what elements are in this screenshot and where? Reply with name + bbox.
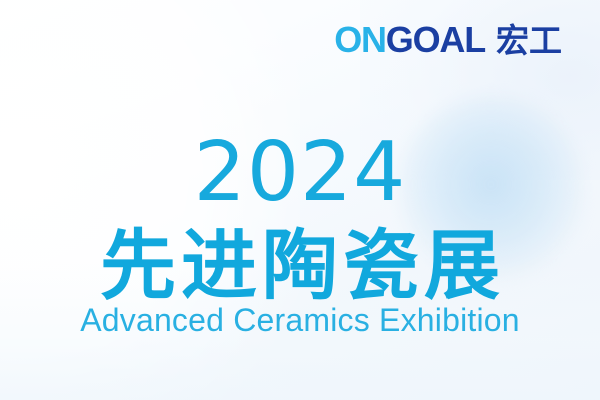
logo-word-on: ON bbox=[334, 22, 386, 58]
headline-stack: 2024 先进陶瓷展 Advanced Ceramics Exhibition bbox=[0, 134, 600, 338]
headline-title-english: Advanced Ceramics Exhibition bbox=[0, 303, 600, 338]
ongoal-logo: ON GOAL 宏工 bbox=[334, 22, 562, 58]
logo-word-chinese: 宏工 bbox=[496, 24, 562, 57]
headline-year: 2024 bbox=[0, 134, 600, 213]
logo-word-goal: GOAL bbox=[386, 22, 485, 58]
headline-title-chinese: 先进陶瓷展 bbox=[0, 227, 600, 305]
exhibition-banner: ON GOAL 宏工 2024 先进陶瓷展 Advanced Ceramics … bbox=[0, 0, 600, 400]
